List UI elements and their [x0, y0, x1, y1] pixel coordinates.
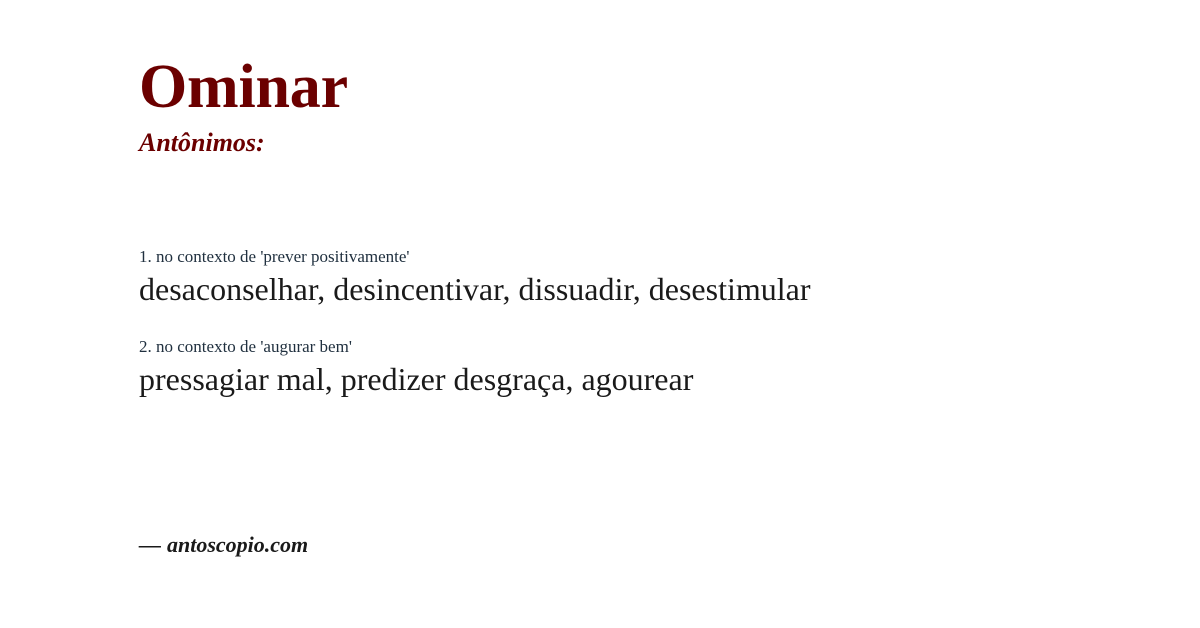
sense-list: 1. no contexto de 'prever positivamente'… [139, 246, 1160, 400]
page-title: Ominar [139, 56, 348, 118]
antonym-words: pressagiar mal, predizer desgraça, agour… [139, 359, 1160, 400]
section-label-antonyms: Antônimos: [139, 130, 348, 156]
em-dash-icon: — [139, 532, 161, 557]
antonyms-card: Ominar Antônimos: 1. no contexto de 'pre… [0, 0, 1200, 628]
card-header: Ominar Antônimos: [139, 56, 348, 156]
sense-item: 1. no contexto de 'prever positivamente'… [139, 246, 1160, 310]
sense-context-label: 1. no contexto de 'prever positivamente' [139, 246, 1160, 267]
source-attribution: —antoscopio.com [139, 534, 308, 556]
sense-context-label: 2. no contexto de 'augurar bem' [139, 336, 1160, 357]
sense-item: 2. no contexto de 'augurar bem' pressagi… [139, 336, 1160, 400]
source-name: antoscopio.com [167, 532, 308, 557]
antonym-words: desaconselhar, desincentivar, dissuadir,… [139, 269, 1160, 310]
